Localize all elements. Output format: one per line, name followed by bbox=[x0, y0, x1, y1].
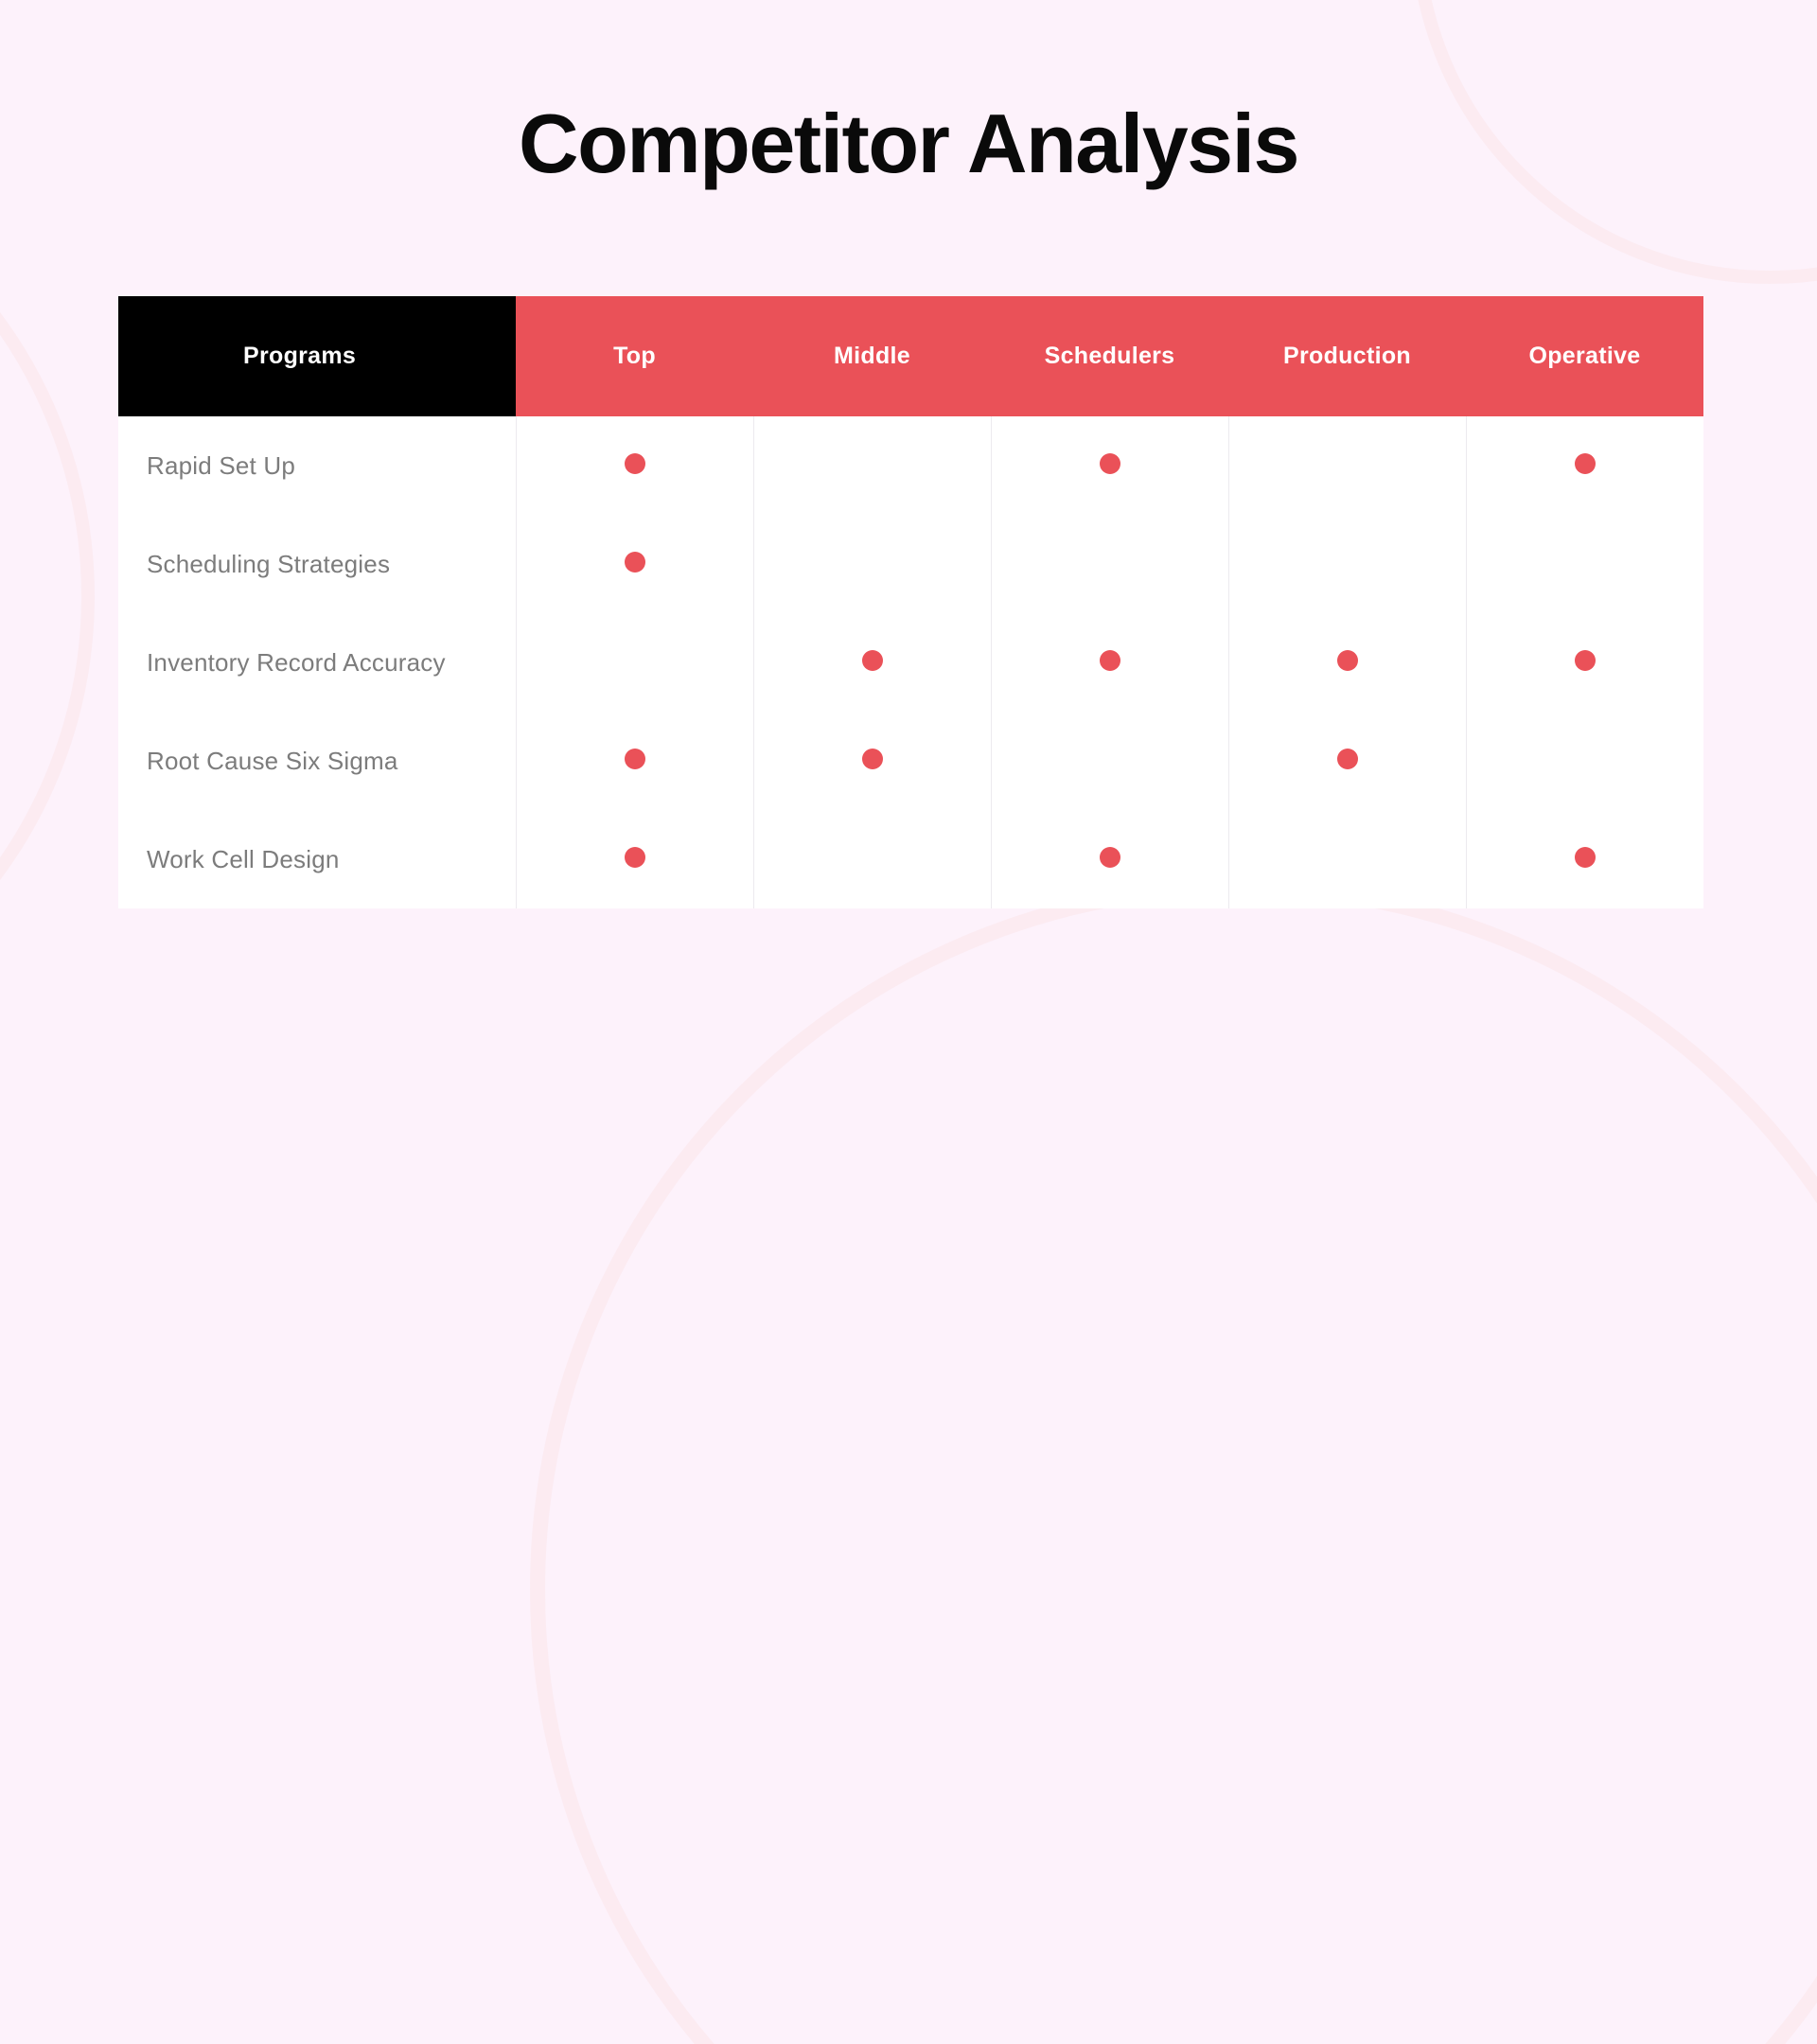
matrix-cell[interactable] bbox=[991, 712, 1228, 810]
competitor-analysis-table: Programs Top Middle Schedulers Productio… bbox=[118, 296, 1703, 908]
matrix-cell[interactable] bbox=[1228, 515, 1466, 613]
matrix-cell[interactable] bbox=[1228, 613, 1466, 712]
dot-marker-filled bbox=[625, 453, 645, 474]
matrix-cell[interactable] bbox=[516, 712, 753, 810]
dot-marker-filled bbox=[1100, 650, 1120, 671]
column-header-operative[interactable]: Operative bbox=[1466, 296, 1703, 416]
dot-marker-empty bbox=[1575, 552, 1596, 573]
row-label: Inventory Record Accuracy bbox=[118, 613, 516, 712]
table-header: Programs Top Middle Schedulers Productio… bbox=[118, 296, 1703, 416]
matrix-cell[interactable] bbox=[1228, 712, 1466, 810]
matrix-cell[interactable] bbox=[516, 613, 753, 712]
matrix-cell[interactable] bbox=[753, 416, 991, 515]
row-label: Work Cell Design bbox=[118, 810, 516, 908]
matrix-cell[interactable] bbox=[753, 515, 991, 613]
row-label: Rapid Set Up bbox=[118, 416, 516, 515]
dot-marker-filled bbox=[862, 650, 883, 671]
matrix-cell[interactable] bbox=[1466, 810, 1703, 908]
table-header-row: Programs Top Middle Schedulers Productio… bbox=[118, 296, 1703, 416]
dot-marker-empty bbox=[1337, 453, 1358, 474]
dot-marker-empty bbox=[1575, 749, 1596, 769]
matrix-cell[interactable] bbox=[1228, 810, 1466, 908]
column-header-schedulers[interactable]: Schedulers bbox=[991, 296, 1228, 416]
dot-marker-filled bbox=[1337, 650, 1358, 671]
matrix-cell[interactable] bbox=[1466, 613, 1703, 712]
matrix-cell[interactable] bbox=[753, 810, 991, 908]
dot-marker-filled bbox=[1575, 847, 1596, 868]
dot-marker-filled bbox=[625, 749, 645, 769]
matrix-cell[interactable] bbox=[516, 810, 753, 908]
matrix-cell[interactable] bbox=[991, 515, 1228, 613]
matrix-cell[interactable] bbox=[516, 416, 753, 515]
row-label: Root Cause Six Sigma bbox=[118, 712, 516, 810]
matrix-cell[interactable] bbox=[516, 515, 753, 613]
matrix-cell[interactable] bbox=[1466, 515, 1703, 613]
dot-marker-filled bbox=[1100, 453, 1120, 474]
table-row: Work Cell Design bbox=[118, 810, 1703, 908]
matrix-cell[interactable] bbox=[991, 416, 1228, 515]
dot-marker-empty bbox=[1337, 552, 1358, 573]
matrix-cell[interactable] bbox=[991, 613, 1228, 712]
dot-marker-filled bbox=[1100, 847, 1120, 868]
dot-marker-filled bbox=[625, 847, 645, 868]
dot-marker-empty bbox=[1337, 847, 1358, 868]
column-header-top[interactable]: Top bbox=[516, 296, 753, 416]
decorative-arc-bottom bbox=[530, 880, 1817, 2044]
page-title: Competitor Analysis bbox=[0, 102, 1817, 185]
dot-marker-filled bbox=[1337, 749, 1358, 769]
dot-marker-filled bbox=[1575, 453, 1596, 474]
dot-marker-filled bbox=[862, 749, 883, 769]
matrix-cell[interactable] bbox=[753, 712, 991, 810]
column-header-production[interactable]: Production bbox=[1228, 296, 1466, 416]
dot-marker-empty bbox=[625, 650, 645, 671]
dot-marker-filled bbox=[625, 552, 645, 573]
dot-marker-empty bbox=[1100, 749, 1120, 769]
decorative-arc-left bbox=[0, 123, 95, 1069]
table-row: Inventory Record Accuracy bbox=[118, 613, 1703, 712]
matrix-cell[interactable] bbox=[1466, 712, 1703, 810]
table-body: Rapid Set UpScheduling StrategiesInvento… bbox=[118, 416, 1703, 908]
column-header-programs[interactable]: Programs bbox=[118, 296, 516, 416]
dot-marker-empty bbox=[862, 847, 883, 868]
matrix-cell[interactable] bbox=[991, 810, 1228, 908]
column-header-middle[interactable]: Middle bbox=[753, 296, 991, 416]
table-row: Root Cause Six Sigma bbox=[118, 712, 1703, 810]
row-label: Scheduling Strategies bbox=[118, 515, 516, 613]
dot-marker-empty bbox=[862, 453, 883, 474]
dot-marker-empty bbox=[1100, 552, 1120, 573]
dot-marker-filled bbox=[1575, 650, 1596, 671]
dot-marker-empty bbox=[862, 552, 883, 573]
matrix-cell[interactable] bbox=[1466, 416, 1703, 515]
table-row: Rapid Set Up bbox=[118, 416, 1703, 515]
matrix-cell[interactable] bbox=[753, 613, 991, 712]
table-row: Scheduling Strategies bbox=[118, 515, 1703, 613]
matrix-cell[interactable] bbox=[1228, 416, 1466, 515]
